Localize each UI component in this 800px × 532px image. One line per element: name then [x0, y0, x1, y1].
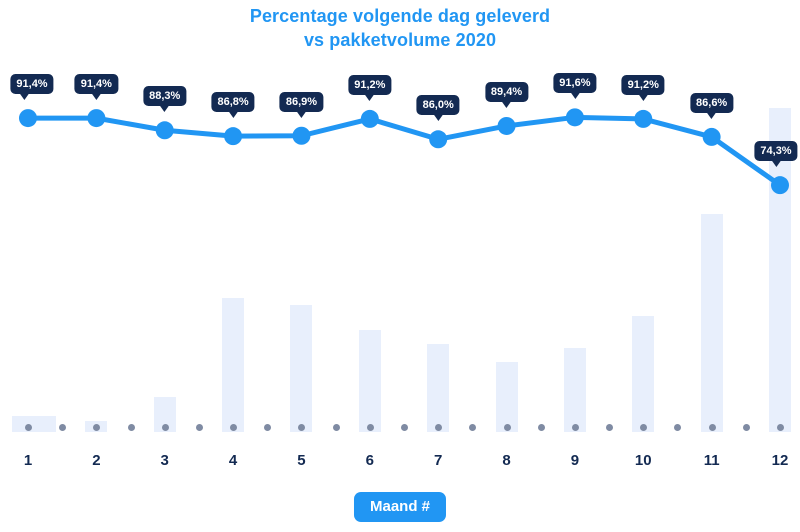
line-path: [28, 117, 780, 185]
plot-area: 91,4%91,4%88,3%86,8%86,9%91,2%86,0%89,4%…: [0, 62, 800, 432]
line-point-month-4[interactable]: [224, 127, 242, 145]
line-point-month-1[interactable]: [19, 109, 37, 127]
x-axis-label-4: 4: [229, 452, 237, 469]
line-point-month-12[interactable]: [771, 176, 789, 194]
page-title: Percentage volgende dag geleverd vs pakk…: [0, 4, 800, 52]
callout-month-7: 86,0%: [417, 95, 460, 115]
callout-month-9: 91,6%: [553, 73, 596, 93]
x-axis-label-3: 3: [161, 452, 169, 469]
title-line-2: vs pakketvolume 2020: [0, 28, 800, 52]
x-axis-label-9: 9: [571, 452, 579, 469]
x-axis-label-11: 11: [704, 452, 720, 469]
callout-month-1: 91,4%: [10, 74, 53, 94]
chart-page: Percentage volgende dag geleverd vs pakk…: [0, 0, 800, 532]
line-point-month-9[interactable]: [566, 108, 584, 126]
callout-month-5: 86,9%: [280, 92, 323, 112]
line-point-month-11[interactable]: [703, 128, 721, 146]
x-axis-label-2: 2: [92, 452, 100, 469]
x-axis-label-6: 6: [366, 452, 374, 469]
line-point-group: [19, 108, 789, 194]
line-point-month-3[interactable]: [156, 121, 174, 139]
callout-month-10: 91,2%: [622, 75, 665, 95]
x-axis-label-7: 7: [434, 452, 442, 469]
line-point-month-5[interactable]: [292, 127, 310, 145]
title-line-1: Percentage volgende dag geleverd: [250, 6, 550, 26]
callout-month-2: 91,4%: [75, 74, 118, 94]
x-axis-title-pill: Maand #: [354, 492, 446, 522]
callout-month-12: 74,3%: [754, 141, 797, 161]
callout-month-4: 86,8%: [211, 92, 254, 112]
line-point-month-6[interactable]: [361, 110, 379, 128]
line-point-month-8[interactable]: [498, 117, 516, 135]
x-axis-label-8: 8: [502, 452, 510, 469]
callout-month-3: 88,3%: [143, 86, 186, 106]
callout-month-6: 91,2%: [348, 75, 391, 95]
line-series: [0, 62, 800, 432]
line-point-month-10[interactable]: [634, 110, 652, 128]
x-axis-label-1: 1: [24, 452, 32, 469]
line-point-month-2[interactable]: [87, 109, 105, 127]
x-axis-label-10: 10: [635, 452, 652, 469]
callout-month-8: 89,4%: [485, 82, 528, 102]
line-point-month-7[interactable]: [429, 130, 447, 148]
x-axis-label-5: 5: [297, 452, 305, 469]
callout-month-11: 86,6%: [690, 93, 733, 113]
x-axis-label-12: 12: [772, 452, 789, 469]
